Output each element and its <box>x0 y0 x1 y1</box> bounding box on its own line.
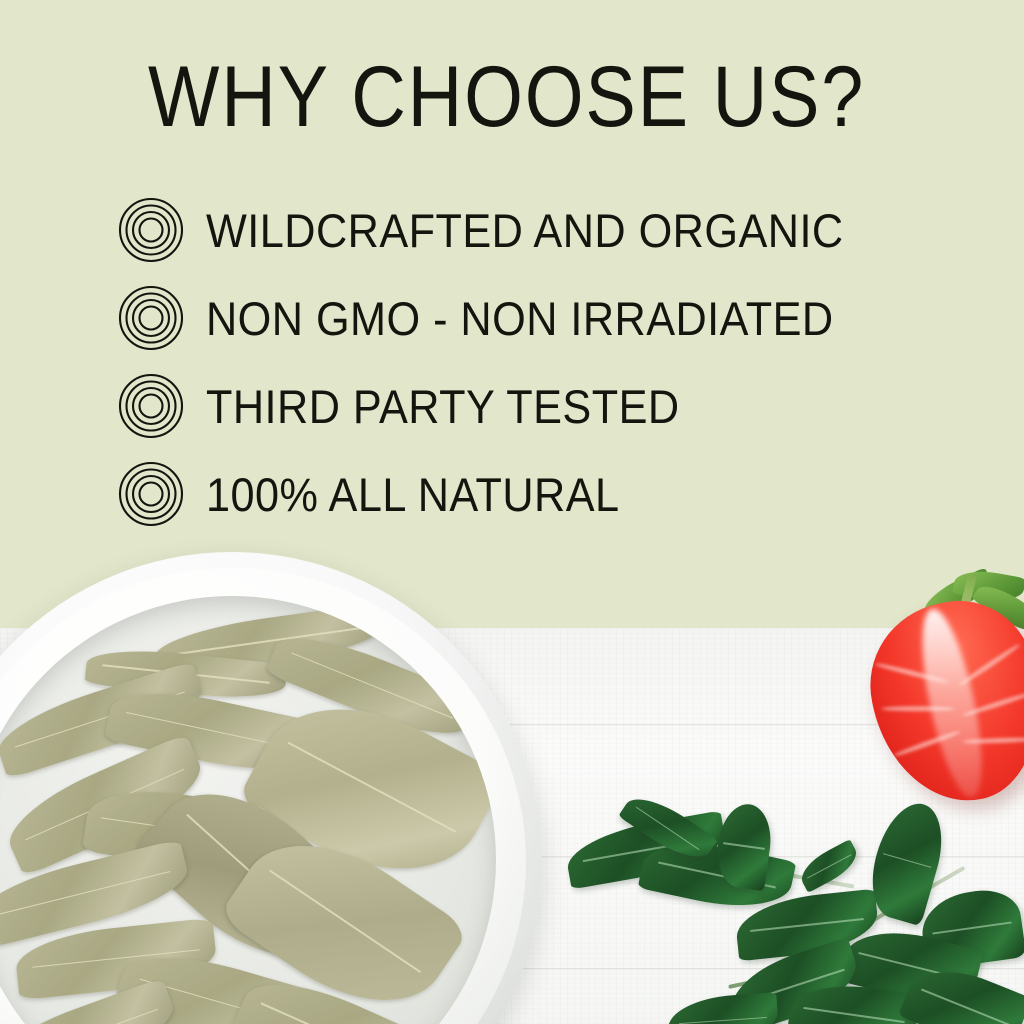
concentric-rings-icon <box>118 373 184 439</box>
strawberry-ray <box>958 642 1021 687</box>
strawberry-flesh <box>855 587 1024 817</box>
list-item: WILDCRAFTED AND ORGANIC <box>118 186 998 274</box>
list-item: NON GMO - NON IRRADIATED <box>118 274 998 362</box>
feature-list: WILDCRAFTED AND ORGANIC NON GMO - NON IR… <box>118 186 998 538</box>
feature-label: WILDCRAFTED AND ORGANIC <box>206 207 844 254</box>
fresh-leaf <box>666 992 779 1024</box>
list-item: THIRD PARTY TESTED <box>118 362 998 450</box>
dried-leaf-bowl <box>0 552 542 1024</box>
concentric-rings-icon <box>118 461 184 527</box>
fresh-leaf-sprig <box>576 788 1024 1024</box>
promo-poster: WHY CHOOSE US? WILDCRAFTED AND ORGANIC N… <box>0 0 1024 1024</box>
page-title: WHY CHOOSE US? <box>148 54 865 140</box>
feature-label: THIRD PARTY TESTED <box>206 383 680 430</box>
concentric-rings-icon <box>118 197 184 263</box>
concentric-rings-icon <box>118 285 184 351</box>
halved-strawberry <box>868 566 1024 804</box>
feature-label: NON GMO - NON IRRADIATED <box>206 295 834 342</box>
feature-label: 100% ALL NATURAL <box>206 471 620 518</box>
strawberry-core <box>911 605 993 802</box>
list-item: 100% ALL NATURAL <box>118 450 998 538</box>
